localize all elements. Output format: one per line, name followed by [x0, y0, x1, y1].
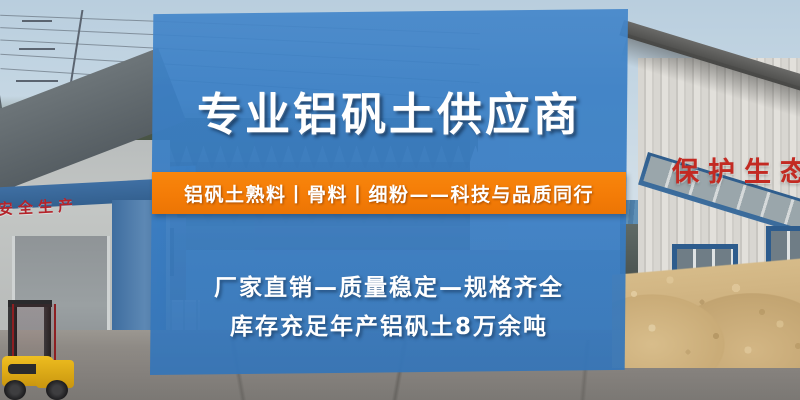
promo-banner-image: 安全生产 保护生态 专业铝矾土供应商: [0, 0, 800, 400]
right-building-sign: 保护生态: [672, 150, 800, 190]
orange-sub-banner: 铝矾土熟料丨骨料丨细粉——科技与品质同行: [152, 172, 626, 214]
headline: 专业铝矾土供应商: [150, 78, 628, 143]
tagline-1: 厂家直销—质量稳定—规格齐全: [150, 268, 628, 302]
forklift: [2, 300, 122, 400]
tagline-2: 库存充足年产铝矾土8万余吨: [150, 307, 628, 341]
bauxite-ore-texture: [612, 250, 800, 368]
orange-sub-banner-text: 铝矾土熟料丨骨料丨细粉——科技与品质同行: [184, 180, 594, 207]
